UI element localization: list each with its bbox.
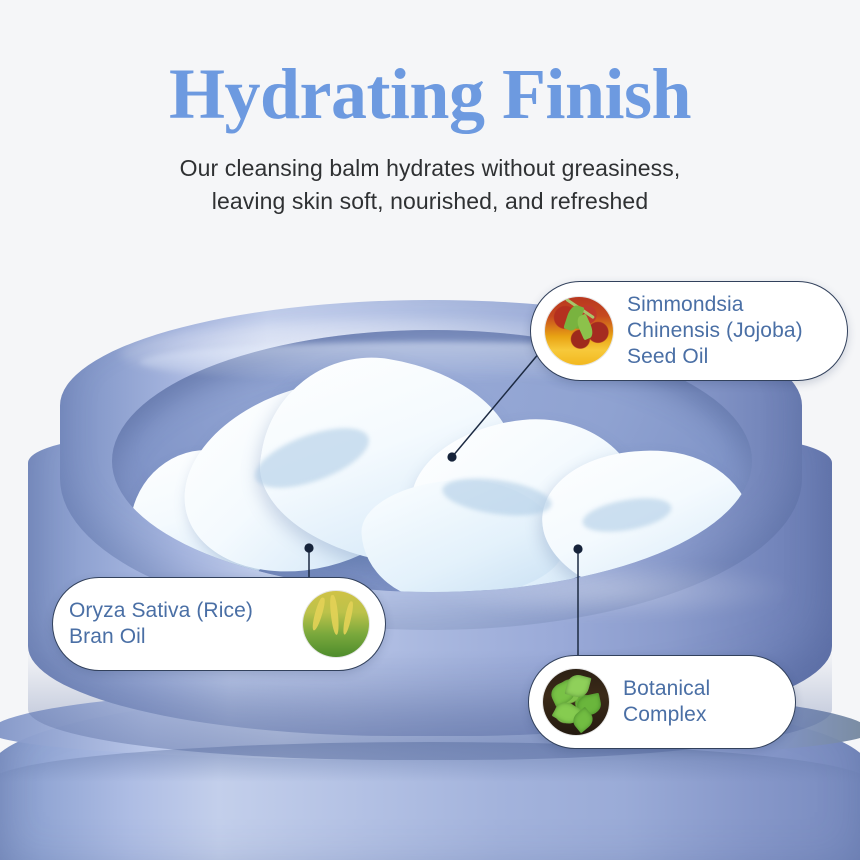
jojoba-berries-icon (545, 297, 613, 365)
connector-dot-jojoba (447, 452, 456, 461)
connector-line-jojoba (452, 352, 540, 457)
page-subtitle: Our cleansing balm hydrates without grea… (0, 130, 860, 217)
jojoba-line-2: Chinensis (Jojoba) (627, 318, 803, 344)
jojoba-line-3: Seed Oil (627, 344, 803, 370)
ingredient-badge-jojoba[interactable]: Simmondsia Chinensis (Jojoba) Seed Oil (530, 281, 848, 381)
rice-line-2: Bran Oil (69, 624, 291, 650)
page-title: Hydrating Finish (0, 0, 860, 130)
subtitle-line-1: Our cleansing balm hydrates without grea… (0, 152, 860, 185)
header: Hydrating Finish Our cleansing balm hydr… (0, 0, 860, 217)
green-leaves-icon (543, 669, 609, 735)
jojoba-line-1: Simmondsia (627, 292, 803, 318)
connector-dot-rice (304, 543, 313, 552)
ingredient-badge-rice-bran-oil[interactable]: Oryza Sativa (Rice) Bran Oil (52, 577, 386, 671)
botanical-line-2: Complex (623, 702, 710, 728)
product-infographic: Hydrating Finish Our cleansing balm hydr… (0, 0, 860, 860)
ingredient-badge-rice-label: Oryza Sativa (Rice) Bran Oil (69, 598, 291, 650)
subtitle-line-2: leaving skin soft, nourished, and refres… (0, 185, 860, 218)
botanical-line-1: Botanical (623, 676, 710, 702)
ingredient-badge-jojoba-label: Simmondsia Chinensis (Jojoba) Seed Oil (627, 292, 803, 370)
ingredient-badge-botanical-label: Botanical Complex (623, 676, 710, 728)
rice-line-1: Oryza Sativa (Rice) (69, 598, 291, 624)
connector-dot-botanical (573, 544, 582, 553)
rice-stalks-icon (303, 591, 369, 657)
ingredient-badge-botanical-complex[interactable]: Botanical Complex (528, 655, 796, 749)
